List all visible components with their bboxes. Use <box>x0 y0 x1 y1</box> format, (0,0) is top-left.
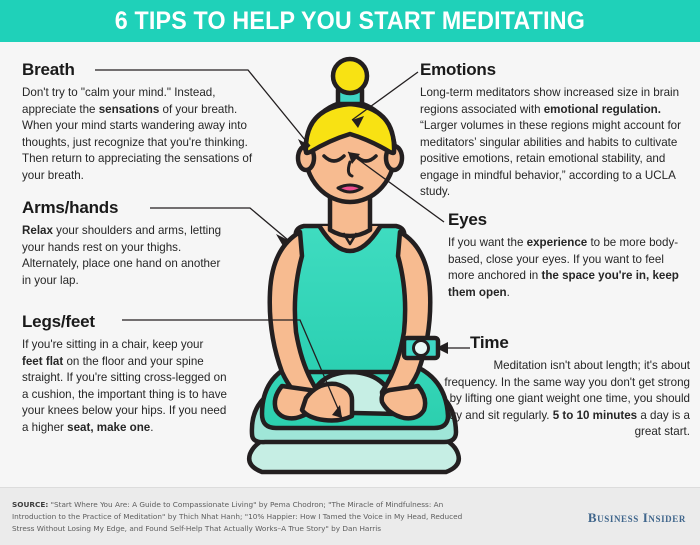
tip-breath: Breath Don't try to "calm your mind." In… <box>22 60 254 184</box>
tip-breath-body: Don't try to "calm your mind." Instead, … <box>22 85 254 184</box>
tip-eyes-heading: Eyes <box>448 210 688 230</box>
source-text: "Start Where You Are: A Guide to Compass… <box>12 500 462 533</box>
page-title: 6 TIPS TO HELP YOU START MEDITATING <box>115 7 585 36</box>
hair-bun <box>333 59 367 93</box>
footer: SOURCE: "Start Where You Are: A Guide to… <box>0 487 700 545</box>
tip-emotions-body: Long-term meditators show increased size… <box>420 85 685 201</box>
source-credit: SOURCE: "Start Where You Are: A Guide to… <box>12 499 482 534</box>
tip-eyes: Eyes If you want the experience to be mo… <box>448 210 688 301</box>
mouth <box>338 185 362 192</box>
watch-face <box>414 341 429 356</box>
tip-time-heading: Time <box>440 333 690 353</box>
tip-legs-heading: Legs/feet <box>22 312 227 332</box>
tip-legs-body: If you're sitting in a chair, keep your … <box>22 337 227 436</box>
tip-legs: Legs/feet If you're sitting in a chair, … <box>22 312 227 436</box>
tip-time: Time Meditation isn't about length; it's… <box>440 333 690 441</box>
tip-emotions: Emotions Long-term meditators show incre… <box>420 60 685 201</box>
source-label: SOURCE: <box>12 500 48 509</box>
infographic-root: 6 TIPS TO HELP YOU START MEDITATING <box>0 0 700 545</box>
business-insider-logo: Business Insider <box>588 510 686 526</box>
tip-time-body: Meditation isn't about length; it's abou… <box>440 358 690 441</box>
header-band: 6 TIPS TO HELP YOU START MEDITATING <box>0 0 700 42</box>
tip-arms-heading: Arms/hands <box>22 198 232 218</box>
tip-arms: Arms/hands Relax your shoulders and arms… <box>22 198 232 289</box>
tip-breath-heading: Breath <box>22 60 254 80</box>
tip-emotions-heading: Emotions <box>420 60 685 80</box>
tip-eyes-body: If you want the experience to be more bo… <box>448 235 688 301</box>
tip-arms-body: Relax your shoulders and arms, letting y… <box>22 223 232 289</box>
